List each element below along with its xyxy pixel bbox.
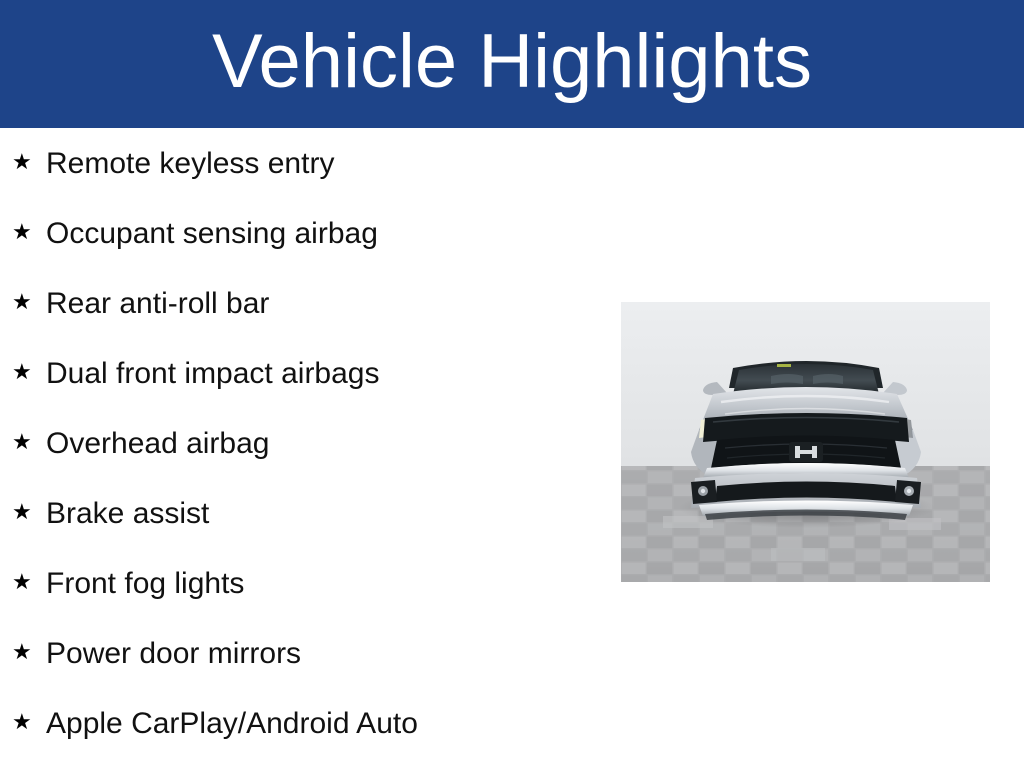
- list-item: ★ Occupant sensing airbag: [0, 198, 600, 268]
- list-item-label: Occupant sensing airbag: [46, 217, 378, 250]
- list-item: ★ Remote keyless entry: [0, 128, 600, 198]
- list-item: ★ Apple CarPlay/Android Auto: [0, 688, 600, 758]
- list-item-label: Overhead airbag: [46, 427, 269, 460]
- vehicle-highlights-list: ★ Remote keyless entry ★ Occupant sensin…: [0, 128, 600, 758]
- list-item-label: Remote keyless entry: [46, 147, 334, 180]
- list-item-label: Rear anti-roll bar: [46, 287, 269, 320]
- vehicle-photo: [621, 302, 990, 582]
- list-item: ★ Dual front impact airbags: [0, 338, 600, 408]
- list-item-label: Brake assist: [46, 497, 209, 530]
- list-item: ★ Front fog lights: [0, 548, 600, 618]
- star-icon: ★: [12, 221, 46, 243]
- star-icon: ★: [12, 151, 46, 173]
- star-icon: ★: [12, 291, 46, 313]
- star-icon: ★: [12, 361, 46, 383]
- vehicle-photo-image: [621, 302, 990, 582]
- star-icon: ★: [12, 711, 46, 733]
- page-title: Vehicle Highlights: [212, 24, 812, 100]
- header-banner: Vehicle Highlights: [0, 0, 1024, 128]
- star-icon: ★: [12, 431, 46, 453]
- list-item: ★ Power door mirrors: [0, 618, 600, 688]
- list-item-label: Front fog lights: [46, 567, 244, 600]
- star-icon: ★: [12, 641, 46, 663]
- star-icon: ★: [12, 501, 46, 523]
- list-item-label: Power door mirrors: [46, 637, 301, 670]
- list-item-label: Dual front impact airbags: [46, 357, 380, 390]
- list-item: ★ Brake assist: [0, 478, 600, 548]
- list-item-label: Apple CarPlay/Android Auto: [46, 707, 418, 740]
- list-item: ★ Rear anti-roll bar: [0, 268, 600, 338]
- star-icon: ★: [12, 571, 46, 593]
- list-item: ★ Overhead airbag: [0, 408, 600, 478]
